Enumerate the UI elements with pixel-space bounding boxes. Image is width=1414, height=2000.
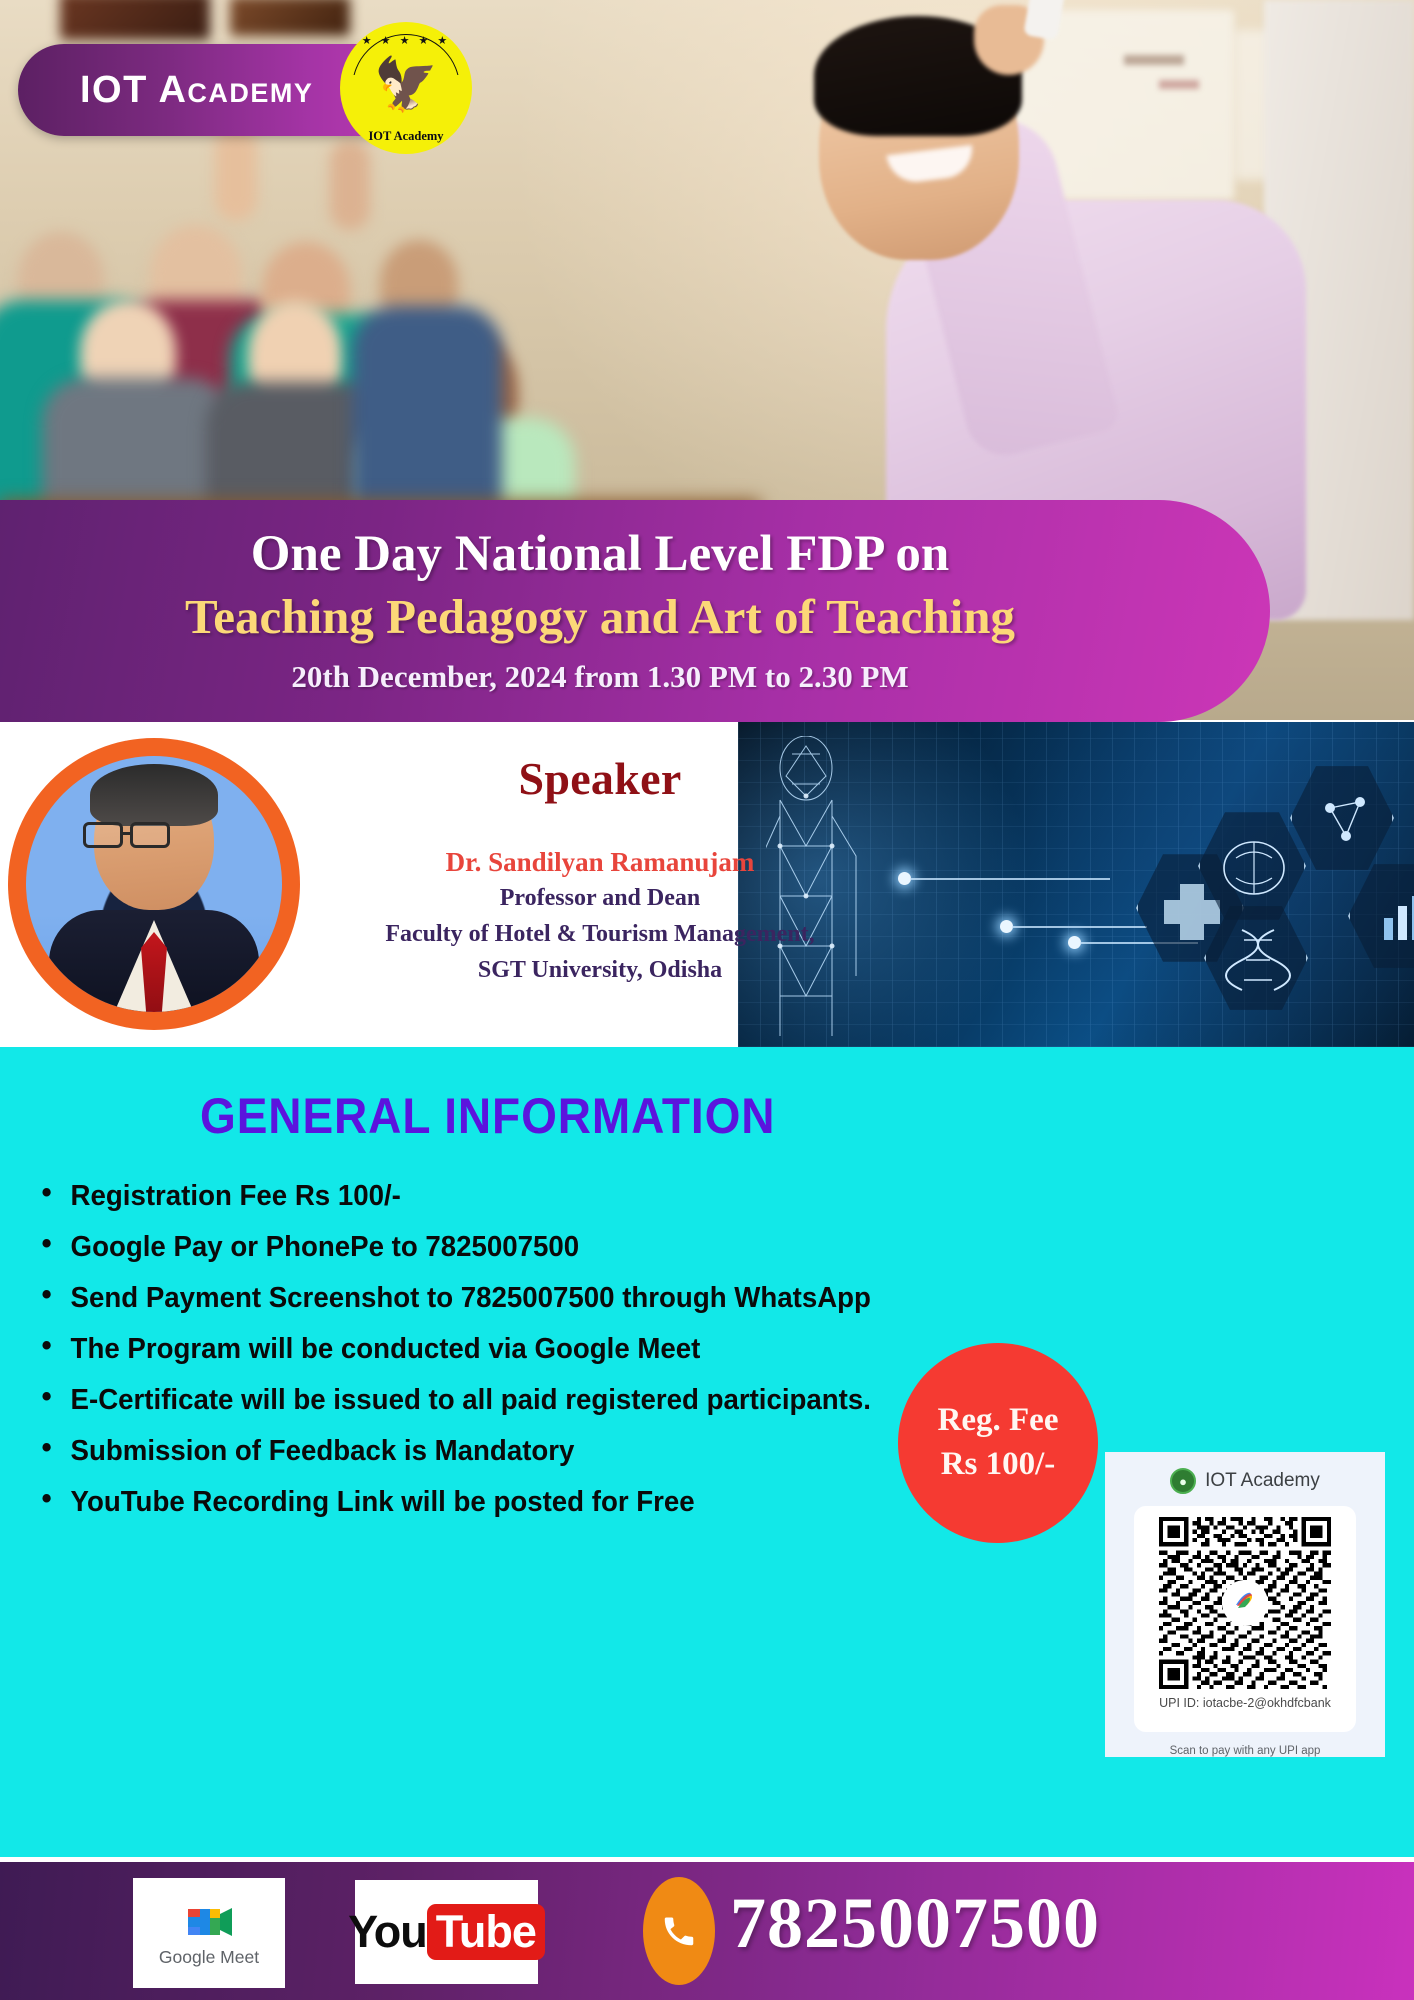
glasses-icon [83, 822, 123, 848]
qr-code-icon[interactable] [1159, 1517, 1331, 1689]
list-item: Submission of Feedback is Mandatory [24, 1435, 897, 1468]
general-information-heading: GENERAL INFORMATION [200, 1087, 775, 1145]
contact-phone-number: 7825007500 [730, 1882, 1100, 1965]
youtube-logo[interactable]: You Tube [355, 1880, 538, 1984]
connection-line [910, 878, 1110, 880]
youtube-tube-text: Tube [427, 1904, 545, 1960]
speaker-faculty: Faculty of Hotel & Tourism Management, [315, 919, 885, 950]
brand-name-text: IOT Academy [80, 69, 313, 112]
badge-name-text: IOT Academy [368, 129, 443, 144]
google-meet-label: Google Meet [159, 1947, 259, 1968]
qr-brand-row: ● IOT Academy [1170, 1468, 1320, 1494]
speaker-photo [26, 756, 282, 1012]
qr-inner-panel: UPI ID: iotacbe-2@okhdfcbank [1134, 1506, 1356, 1732]
speaker-details: Speaker Dr. Sandilyan Ramanujam Professo… [315, 752, 885, 987]
google-meet-icon [180, 1899, 238, 1945]
phone-icon [643, 1877, 715, 1985]
event-title-banner: One Day National Level FDP on Teaching P… [0, 500, 1270, 722]
google-pay-logo-icon [1225, 1583, 1265, 1623]
upi-id-text: UPI ID: iotacbe-2@okhdfcbank [1159, 1696, 1331, 1710]
glasses-icon [130, 822, 170, 848]
general-information-list: Registration Fee Rs 100/- Google Pay or … [24, 1180, 924, 1537]
iot-academy-logo-icon: ● [1170, 1468, 1196, 1494]
wall-art-decor [60, 0, 210, 40]
fee-badge-line2: Rs 100/- [941, 1443, 1056, 1487]
list-item: E-Certificate will be issued to all paid… [24, 1384, 897, 1417]
list-item: Registration Fee Rs 100/- [24, 1180, 897, 1213]
speaker-hair [90, 764, 218, 826]
speaker-name: Dr. Sandilyan Ramanujam [315, 847, 885, 878]
youtube-you-text: You [348, 1906, 427, 1958]
event-title-line1: One Day National Level FDP on [251, 527, 949, 582]
event-datetime: 20th December, 2024 from 1.30 PM to 2.30… [291, 659, 908, 695]
list-item: Send Payment Screenshot to 7825007500 th… [24, 1282, 897, 1315]
speaker-heading: Speaker [315, 752, 885, 805]
speaker-university: SGT University, Odisha [315, 955, 885, 986]
upi-qr-card[interactable]: ● IOT Academy [1105, 1452, 1385, 1757]
fee-badge-line1: Reg. Fee [938, 1399, 1059, 1443]
wall-scribble-decor [1159, 80, 1199, 89]
glasses-bridge [123, 832, 133, 835]
raised-hand [215, 125, 257, 221]
brand-badge-logo: ★ ★ ★ ★ ★ 🦅 IOT Academy [340, 22, 472, 154]
raised-hand [330, 140, 370, 230]
speaker-section: Speaker Dr. Sandilyan Ramanujam Professo… [0, 722, 1414, 1047]
speaker-role: Professor and Dean [315, 883, 885, 914]
qr-brand-name: IOT Academy [1205, 1470, 1320, 1492]
speaker-avatar [8, 738, 300, 1030]
list-item: YouTube Recording Link will be posted fo… [24, 1486, 897, 1519]
wall-scribble-decor [1124, 55, 1184, 65]
student-figure [352, 306, 502, 516]
list-item: Google Pay or PhonePe to 7825007500 [24, 1231, 897, 1264]
list-item: The Program will be conducted via Google… [24, 1333, 897, 1366]
event-title-line2: Teaching Pedagogy and Art of Teaching [185, 591, 1015, 644]
registration-fee-badge: Reg. Fee Rs 100/- [898, 1343, 1098, 1543]
google-meet-logo[interactable]: Google Meet [133, 1878, 285, 1988]
wall-art-decor [230, 0, 350, 36]
qr-scan-hint: Scan to pay with any UPI app [1170, 1745, 1321, 1757]
connection-line [1012, 926, 1147, 928]
